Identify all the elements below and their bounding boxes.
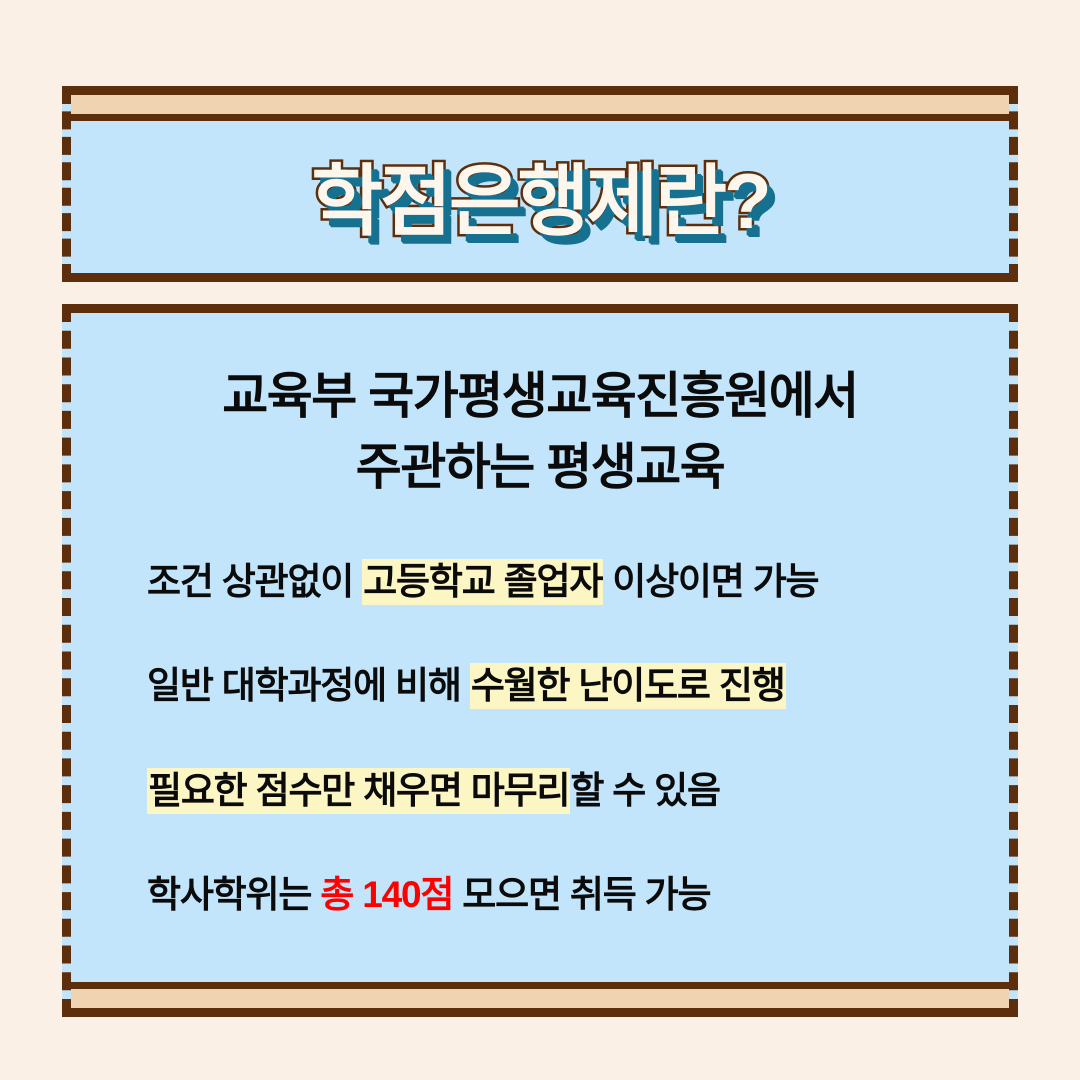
accent-text: 총 140점 bbox=[320, 874, 453, 915]
page-title: 학점은행제란? bbox=[311, 162, 768, 240]
plain-text: 조건 상관없이 bbox=[147, 561, 362, 602]
highlighted-text: 필요한 점수만 채우면 마무리 bbox=[147, 768, 570, 814]
list-item: 일반 대학과정에 비해 수월한 난이도로 진행 bbox=[147, 663, 979, 709]
list-item: 학사학위는 총 140점 모으면 취득 가능 bbox=[147, 872, 979, 918]
highlighted-text: 고등학교 졸업자 bbox=[362, 559, 603, 605]
plain-text: 일반 대학과정에 비해 bbox=[147, 665, 470, 706]
plain-text: 학사학위는 bbox=[147, 874, 320, 915]
title-stage: 학점은행제란? bbox=[71, 128, 1009, 273]
highlighted-text: 수월한 난이도로 진행 bbox=[470, 663, 786, 709]
list-item: 조건 상관없이 고등학교 졸업자 이상이면 가능 bbox=[147, 559, 979, 605]
title-panel: 학점은행제란? bbox=[62, 86, 1018, 282]
plain-text: 이상이면 가능 bbox=[603, 561, 818, 602]
content-panel: 교육부 국가평생교육진흥원에서 주관하는 평생교육 조건 상관없이 고등학교 졸… bbox=[62, 304, 1018, 1017]
content-bottom-band bbox=[71, 982, 1009, 1008]
plain-text: 모으면 취득 가능 bbox=[453, 874, 710, 915]
poster-root: 학점은행제란? 교육부 국가평생교육진흥원에서 주관하는 평생교육 조건 상관없… bbox=[0, 0, 1080, 1080]
list-item: 필요한 점수만 채우면 마무리할 수 있음 bbox=[147, 768, 979, 814]
plain-text: 할 수 있음 bbox=[570, 770, 720, 811]
fact-list: 조건 상관없이 고등학교 졸업자 이상이면 가능 일반 대학과정에 비해 수월한… bbox=[101, 559, 979, 918]
headline: 교육부 국가평생교육진흥원에서 주관하는 평생교육 bbox=[101, 361, 979, 503]
title-top-band bbox=[71, 95, 1009, 121]
headline-line-1: 교육부 국가평생교육진흥원에서 bbox=[101, 361, 979, 432]
headline-line-2: 주관하는 평생교육 bbox=[101, 432, 979, 503]
